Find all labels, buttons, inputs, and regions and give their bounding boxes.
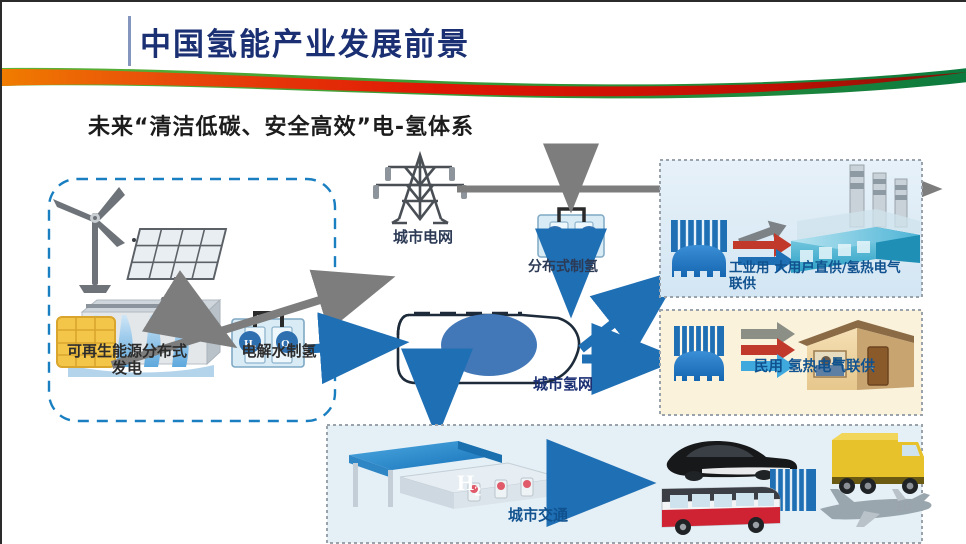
- page-number: 10: [895, 498, 912, 515]
- transmission-tower-icon: [376, 155, 464, 223]
- label-urban-transport: 城市交通: [508, 507, 568, 524]
- label-city-hydrogen-network: 城市氢网: [533, 376, 593, 393]
- label-residential-use: 民用 氢热电气联供: [754, 359, 875, 376]
- city-hydrogen-network-shape: [398, 313, 579, 383]
- wind-turbine-icon: [53, 187, 125, 293]
- renewable-generation-group: [49, 179, 335, 421]
- distributed-h2-text: H₂: [550, 232, 561, 243]
- distributed-o2-text: O₂: [584, 232, 595, 243]
- label-city-grid: 城市电网: [393, 229, 453, 246]
- h2-bubble: [441, 314, 537, 376]
- h2-bubble-letter: H: [457, 470, 474, 495]
- transport-panel: [327, 425, 931, 543]
- label-distributed-hydrogen: 分布式制氢: [528, 259, 598, 275]
- slide-header: 中国氢能产业发展前景: [2, 2, 966, 100]
- hydrogen-cylinder-bank-icon-2: [674, 326, 724, 381]
- page-title: 中国氢能产业发展前景: [140, 19, 470, 64]
- label-electrolysis: 电解水制氢: [224, 343, 334, 360]
- arrow-h2net-to-industrial: [581, 277, 672, 349]
- slide-root: 中国氢能产业发展前景 未来“清洁低碳、安全高效”电-氢体: [0, 0, 966, 544]
- header-wave-ribbon: [2, 60, 966, 100]
- diagram-svg: H₂ O₂: [2, 137, 966, 544]
- title-accent-rule: [128, 16, 131, 66]
- h2-bubble-label: H2: [457, 470, 481, 500]
- label-renewable-generation: 可再生能源分布式发电: [62, 343, 192, 378]
- hydrogen-cylinder-bank-icon: [671, 220, 727, 277]
- label-industrial-use: 工业用 大用户直供/氢热电气联供: [729, 261, 909, 292]
- diagram-canvas: H₂ O₂: [2, 137, 966, 544]
- h2-bubble-subscript: 2: [474, 484, 481, 499]
- distributed-hydrogen-icon: H₂ O₂: [538, 209, 604, 257]
- solar-panel-icon: [128, 229, 226, 304]
